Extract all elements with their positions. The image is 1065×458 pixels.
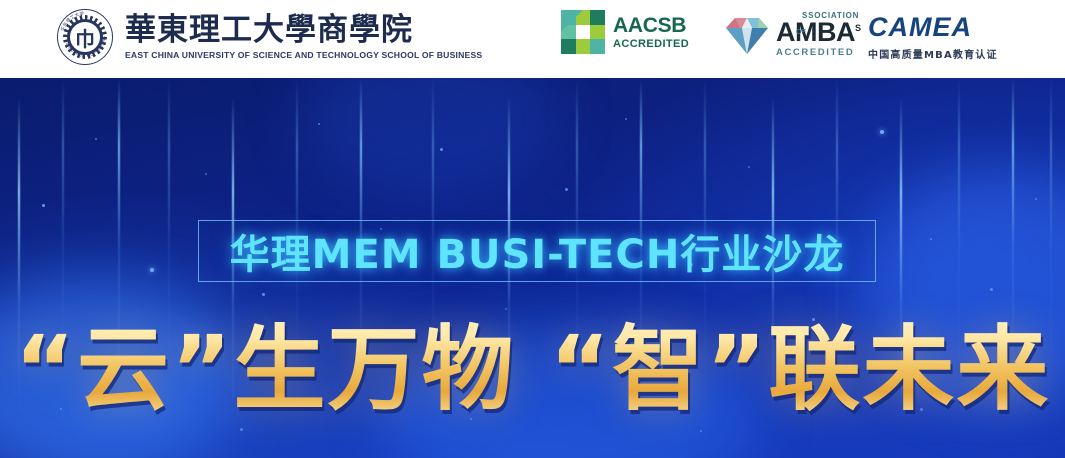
university-logo: 巾 华东理工大学 UNIVERSITY OF SCIENCE 華東理工大學商學院… — [55, 7, 482, 67]
banner-title: 华理MEM BUSI-TECH行业沙龙 — [198, 221, 876, 281]
svg-text:华东理工大学: 华东理工大学 — [59, 10, 85, 32]
banner-headline: “云”生万物 “智”联未来 — [0, 306, 1065, 416]
amba-label: AMBAS — [776, 19, 861, 46]
promo-banner-page: 巾 华东理工大学 UNIVERSITY OF SCIENCE 華東理工大學商學院… — [0, 0, 1065, 458]
camea-accreditation-logo: CAMEA 中国高质量MBA教育认证 — [868, 14, 998, 61]
aacsb-square-mosaic-icon — [561, 10, 605, 54]
amba-initial: A — [776, 17, 795, 47]
header-band: 巾 华东理工大学 UNIVERSITY OF SCIENCE 華東理工大學商學院… — [0, 0, 1065, 78]
ecust-circular-emblem-icon: 巾 华东理工大学 UNIVERSITY OF SCIENCE — [55, 7, 115, 67]
event-banner: 华理MEM BUSI-TECH行业沙龙 “云”生万物 “智”联未来 活动时间 6… — [0, 78, 1065, 458]
amba-of-label: OF — [796, 29, 806, 36]
amba-sublabel: ACCREDITED — [776, 48, 861, 58]
camea-sublabel: 中国高质量MBA教育认证 — [868, 46, 998, 61]
amba-association-label: SSOCIATION — [802, 12, 859, 20]
aacsb-label: AACSB — [613, 15, 689, 36]
university-name-en: EAST CHINA UNIVERSITY OF SCIENCE AND TEC… — [125, 49, 482, 61]
aacsb-sublabel: ACCREDITED — [613, 39, 689, 50]
amba-accreditation-logo: SSOCIATION OF AMBAS ACCREDITED — [722, 12, 861, 58]
university-name-cn: 華東理工大學商學院 — [125, 13, 482, 47]
amba-superscript: S — [855, 23, 861, 33]
amba-diamond-icon — [722, 14, 772, 56]
emblem-arc-text: 华东理工大学 UNIVERSITY OF SCIENCE — [55, 7, 115, 67]
camea-label: CAMEA — [868, 14, 998, 41]
aacsb-accreditation-logo: AACSB ACCREDITED — [561, 10, 689, 54]
